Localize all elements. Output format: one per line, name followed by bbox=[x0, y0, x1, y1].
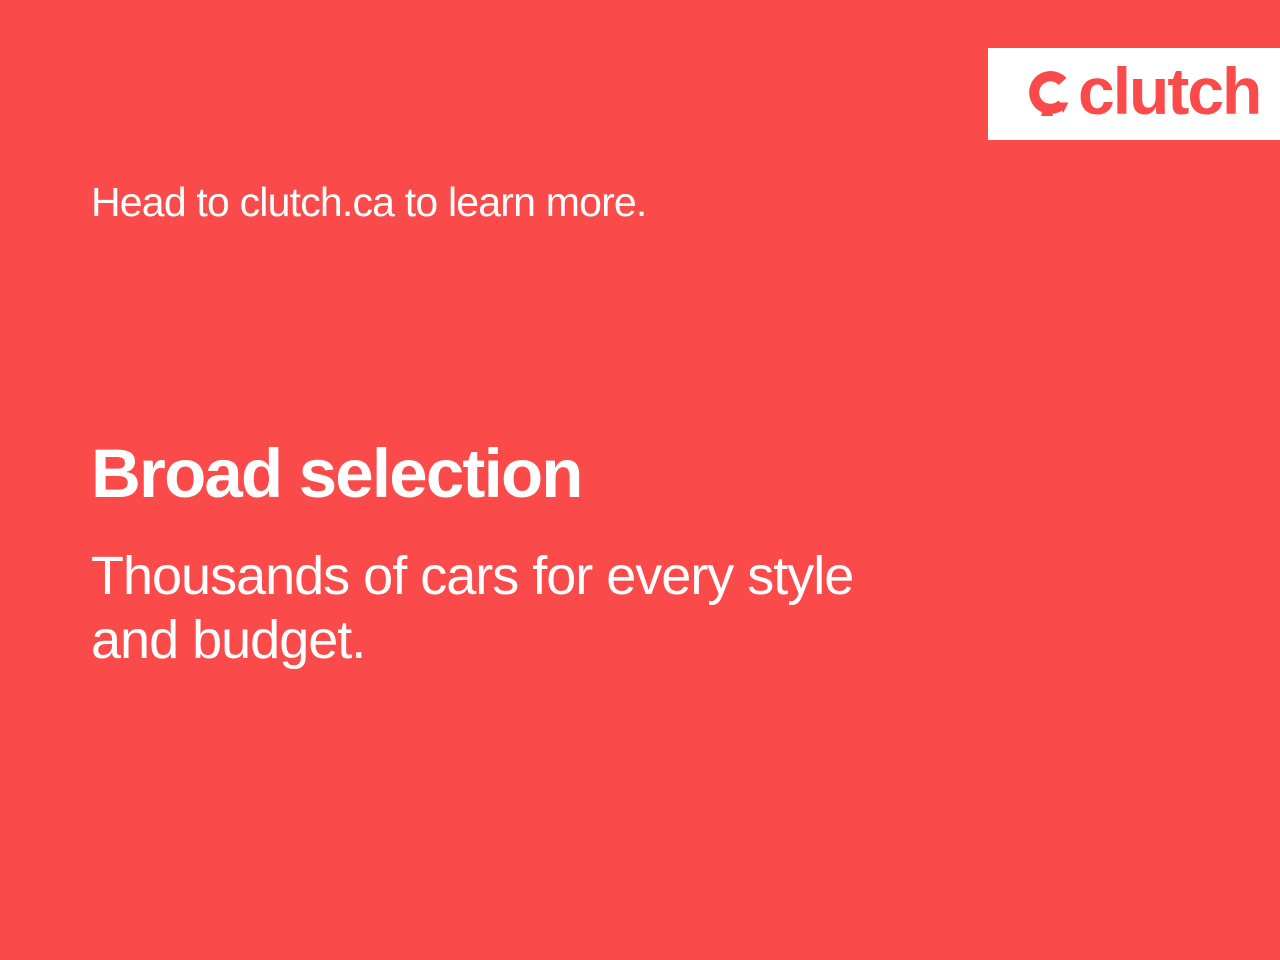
logo-lockup: clutch bbox=[1022, 61, 1260, 127]
clutch-c-ring-icon bbox=[1022, 66, 1076, 122]
clutch-logo-badge[interactable]: clutch bbox=[988, 48, 1280, 140]
subheading-line-1: Thousands of cars for every style bbox=[91, 544, 1051, 608]
eyebrow-text: Head to clutch.ca to learn more. bbox=[91, 178, 647, 227]
page-title: Broad selection bbox=[91, 437, 582, 512]
subheading-line-2: and budget. bbox=[91, 608, 1051, 672]
slide-canvas: clutch Head to clutch.ca to learn more. … bbox=[0, 0, 1280, 960]
clutch-wordmark: clutch bbox=[1078, 58, 1260, 124]
subheading: Thousands of cars for every style and bu… bbox=[91, 544, 1051, 673]
